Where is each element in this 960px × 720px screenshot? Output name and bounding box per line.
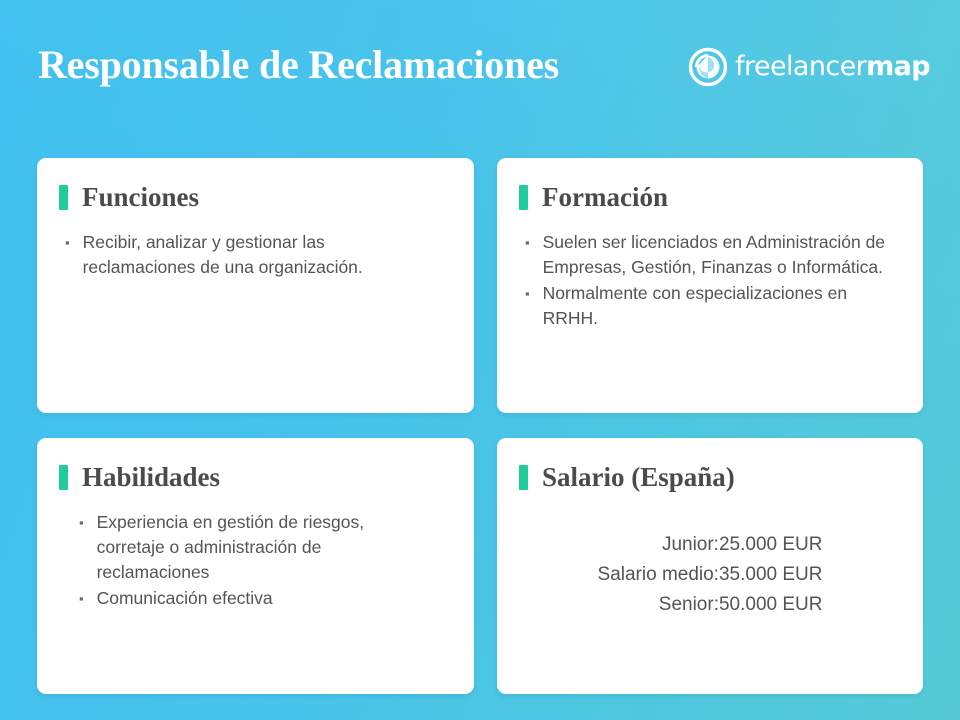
page-title: Responsable de Reclamaciones [38,42,559,88]
list-item-text: Normalmente con especializaciones en RRH… [543,281,895,331]
table-row: Junior: 25.000 EUR [598,530,823,560]
accent-bar-icon [519,465,528,490]
header: Responsable de Reclamaciones freelancerm… [0,0,960,148]
list-item: ▪ Comunicación efectiva [79,586,452,611]
brand-logo: freelancermap [688,44,930,90]
list-item: ▪ Suelen ser licenciados en Administraci… [525,230,901,280]
list-item-text: Recibir, analizar y gestionar las reclam… [83,230,408,280]
card-header: Salario (España) [519,460,901,494]
salary-label: Salario medio: [598,560,719,590]
card-title: Funciones [82,181,199,213]
logo-wordmark-light: freelancer [735,51,866,82]
accent-bar-icon [59,465,68,490]
bullet-square-icon: ▪ [65,230,70,255]
list-item: ▪ Recibir, analizar y gestionar las recl… [65,230,452,280]
bullet-list: ▪ Suelen ser licenciados en Administraci… [525,230,901,331]
accent-bar-icon [59,185,68,210]
accent-bar-icon [519,185,528,210]
salary-label: Junior: [598,530,719,560]
card-formacion: Formación ▪ Suelen ser licenciados en Ad… [497,158,923,413]
freelancermap-swirl-icon [688,47,728,87]
table-row: Senior: 50.000 EUR [598,590,823,620]
list-item: ▪ Experiencia en gestión de riesgos, cor… [79,510,452,585]
bullet-square-icon: ▪ [525,281,530,306]
table-row: Salario medio: 35.000 EUR [598,560,823,590]
list-item-text: Suelen ser licenciados en Administración… [543,230,895,280]
bullet-square-icon: ▪ [79,586,84,611]
bullet-list: ▪ Recibir, analizar y gestionar las recl… [65,230,452,280]
card-header: Formación [519,180,901,214]
logo-wordmark-bold: map [866,51,930,82]
card-header: Funciones [59,180,452,214]
card-title: Habilidades [82,461,220,493]
card-header: Habilidades [59,460,452,494]
logo-wordmark: freelancermap [735,52,930,82]
salary-table: Junior: 25.000 EUR Salario medio: 35.000… [598,530,823,620]
salary-value: 50.000 EUR [719,590,823,620]
bullet-square-icon: ▪ [79,510,84,535]
card-funciones: Funciones ▪ Recibir, analizar y gestiona… [37,158,474,413]
list-item-text: Comunicación efectiva [97,586,377,611]
card-salario: Salario (España) Junior: 25.000 EUR Sala… [497,438,923,694]
card-title: Salario (España) [542,461,735,493]
bullet-square-icon: ▪ [525,230,530,255]
salary-value: 25.000 EUR [719,530,823,560]
salary-label: Senior: [598,590,719,620]
card-grid: Funciones ▪ Recibir, analizar y gestiona… [37,158,923,694]
card-title: Formación [542,181,668,213]
card-habilidades: Habilidades ▪ Experiencia en gestión de … [37,438,474,694]
salary-value: 35.000 EUR [719,560,823,590]
list-item-text: Experiencia en gestión de riesgos, corre… [97,510,377,585]
bullet-list: ▪ Experiencia en gestión de riesgos, cor… [79,510,452,611]
list-item: ▪ Normalmente con especializaciones en R… [525,281,901,331]
